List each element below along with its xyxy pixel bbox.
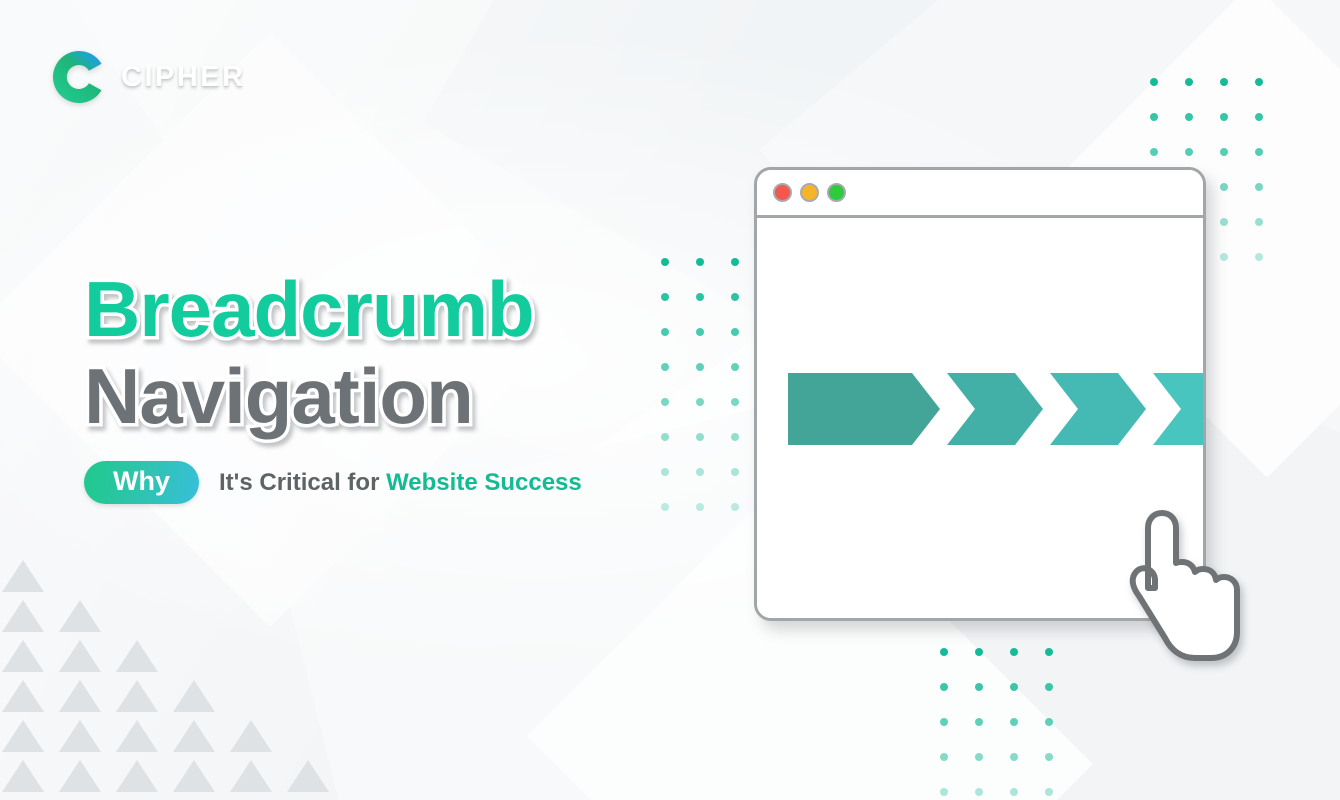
title-line-1: Breadcrumb (84, 272, 533, 347)
breadcrumb-segment-2[interactable] (947, 373, 1043, 445)
decor-triangle (116, 640, 158, 672)
decor-dot (731, 258, 739, 266)
decor-triangle (2, 680, 44, 712)
why-badge: Why (84, 461, 199, 504)
decor-dot (696, 258, 704, 266)
decor-dot (661, 258, 669, 266)
traffic-light-maximize-icon[interactable] (827, 183, 846, 202)
decor-dot (696, 293, 704, 301)
decor-triangle (2, 760, 44, 792)
decor-dot (1255, 218, 1263, 226)
decor-dot (1255, 113, 1263, 121)
decor-dot (975, 788, 983, 796)
brand-logo[interactable]: CIPHER (50, 48, 246, 106)
decor-dot (1220, 218, 1228, 226)
decor-dot (661, 293, 669, 301)
decor-dot (1150, 113, 1158, 121)
decor-dot (1255, 78, 1263, 86)
decor-dot (731, 468, 739, 476)
decor-dot (1010, 788, 1018, 796)
decor-dot (696, 363, 704, 371)
decor-triangle (59, 680, 101, 712)
decor-triangle (2, 720, 44, 752)
decor-dot (661, 468, 669, 476)
decor-dot (731, 363, 739, 371)
decor-triangle (59, 600, 101, 632)
decor-triangle (116, 680, 158, 712)
decor-dot (731, 433, 739, 441)
decor-triangle (173, 760, 215, 792)
cipher-c-logo-icon (50, 48, 108, 106)
decor-dot (975, 753, 983, 761)
decor-triangle (59, 640, 101, 672)
decor-dot (975, 648, 983, 656)
decor-dot (1045, 753, 1053, 761)
subtitle-row: Why It's Critical for Website Success (84, 461, 582, 504)
decor-triangle (59, 720, 101, 752)
brand-name: CIPHER (121, 61, 246, 94)
decor-dot (940, 683, 948, 691)
decor-dot (940, 718, 948, 726)
decor-dot (731, 328, 739, 336)
decor-dot (661, 503, 669, 511)
decor-triangle (2, 600, 44, 632)
decor-triangle (173, 680, 215, 712)
decor-dot (731, 293, 739, 301)
decor-triangle (2, 560, 44, 592)
decor-dot (1220, 183, 1228, 191)
decor-dot (1220, 148, 1228, 156)
decor-dot (661, 328, 669, 336)
decor-dot (1185, 148, 1193, 156)
subtitle-text: It's Critical for Website Success (219, 469, 582, 497)
decor-dot (696, 328, 704, 336)
decor-dot (1045, 788, 1053, 796)
decor-dot (1220, 113, 1228, 121)
breadcrumb-segment-1[interactable] (788, 373, 940, 445)
decor-dot (940, 788, 948, 796)
decor-dot (1220, 78, 1228, 86)
decor-dot (1150, 78, 1158, 86)
decor-dot (975, 683, 983, 691)
subtitle-plain: It's Critical for (219, 469, 379, 496)
decor-dot (940, 753, 948, 761)
decor-triangle (116, 760, 158, 792)
decor-dot (696, 503, 704, 511)
decor-dot (661, 398, 669, 406)
decor-dot (661, 433, 669, 441)
page-title: Breadcrumb Navigation (84, 272, 533, 434)
decor-dot (661, 363, 669, 371)
decor-dot (696, 398, 704, 406)
decor-dot (1010, 753, 1018, 761)
browser-titlebar (757, 170, 1203, 218)
decor-dot (696, 433, 704, 441)
decor-dot (731, 398, 739, 406)
breadcrumb-segment-4[interactable] (1153, 373, 1206, 445)
decor-dot (1255, 148, 1263, 156)
decor-dot (1045, 718, 1053, 726)
decor-dot (1185, 78, 1193, 86)
decor-triangle (230, 760, 272, 792)
decor-dot (1255, 253, 1263, 261)
decor-triangle (2, 640, 44, 672)
breadcrumb-segment-3[interactable] (1050, 373, 1146, 445)
decor-dot (731, 503, 739, 511)
decor-dot (1010, 683, 1018, 691)
breadcrumb-trail (788, 373, 1206, 445)
decor-dot (940, 648, 948, 656)
decor-triangle (116, 720, 158, 752)
decor-triangle (59, 760, 101, 792)
decor-triangle (173, 720, 215, 752)
traffic-light-minimize-icon[interactable] (800, 183, 819, 202)
decor-dot (975, 718, 983, 726)
decor-dot (1010, 648, 1018, 656)
pointing-hand-cursor-icon (1115, 506, 1243, 671)
decor-dot (1185, 113, 1193, 121)
decor-dot (1010, 718, 1018, 726)
poster-canvas: CIPHER Breadcrumb Navigation Why It's Cr… (0, 0, 1340, 800)
subtitle-highlight: Website Success (386, 469, 582, 496)
title-line-2: Navigation (84, 359, 533, 434)
traffic-light-close-icon[interactable] (773, 183, 792, 202)
decor-dot (696, 468, 704, 476)
decor-dot (1255, 183, 1263, 191)
decor-dot (1045, 648, 1053, 656)
decor-dot (1220, 253, 1228, 261)
decor-triangle (230, 720, 272, 752)
decor-triangle (287, 760, 329, 792)
decor-dot (1150, 148, 1158, 156)
decor-dot (1045, 683, 1053, 691)
